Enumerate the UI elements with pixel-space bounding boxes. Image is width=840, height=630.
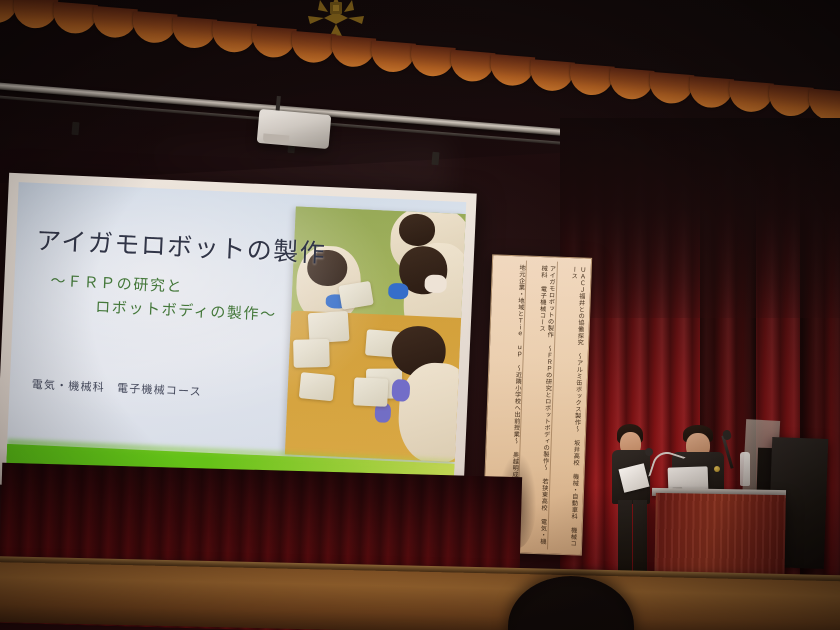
curtain-shadow-top: [560, 118, 840, 318]
slide-department-label: 電気・機械科 電子機械コース: [31, 376, 202, 400]
projection-screen-frame: アイガモロボットの製作 〜ＦＲＰの研究と ロボットボディの製作〜 電気・機械科 …: [0, 173, 477, 506]
presenter-left-leg: [633, 500, 647, 576]
projection-screen: アイガモロボットの製作 〜ＦＲＰの研究と ロボットボディの製作〜 電気・機械科 …: [6, 182, 466, 490]
truss-clamp: [431, 152, 439, 166]
presenter-right-badge: [714, 466, 720, 472]
presenter-left-leg: [618, 500, 632, 576]
microphone-head-icon: [645, 448, 653, 456]
truss-clamp: [71, 122, 79, 136]
slide-subtitle-line1: 〜ＦＲＰの研究と: [50, 270, 184, 297]
slide-title: アイガモロボットの製作: [36, 227, 337, 269]
ceiling-projector: [257, 109, 332, 149]
slide-subtitle-line2: ロボットボディの製作〜: [95, 296, 277, 325]
auditorium-scene: アイガモロボットの製作 〜ＦＲＰの研究と ロボットボディの製作〜 電気・機械科 …: [0, 0, 840, 630]
water-bottle: [740, 452, 750, 486]
